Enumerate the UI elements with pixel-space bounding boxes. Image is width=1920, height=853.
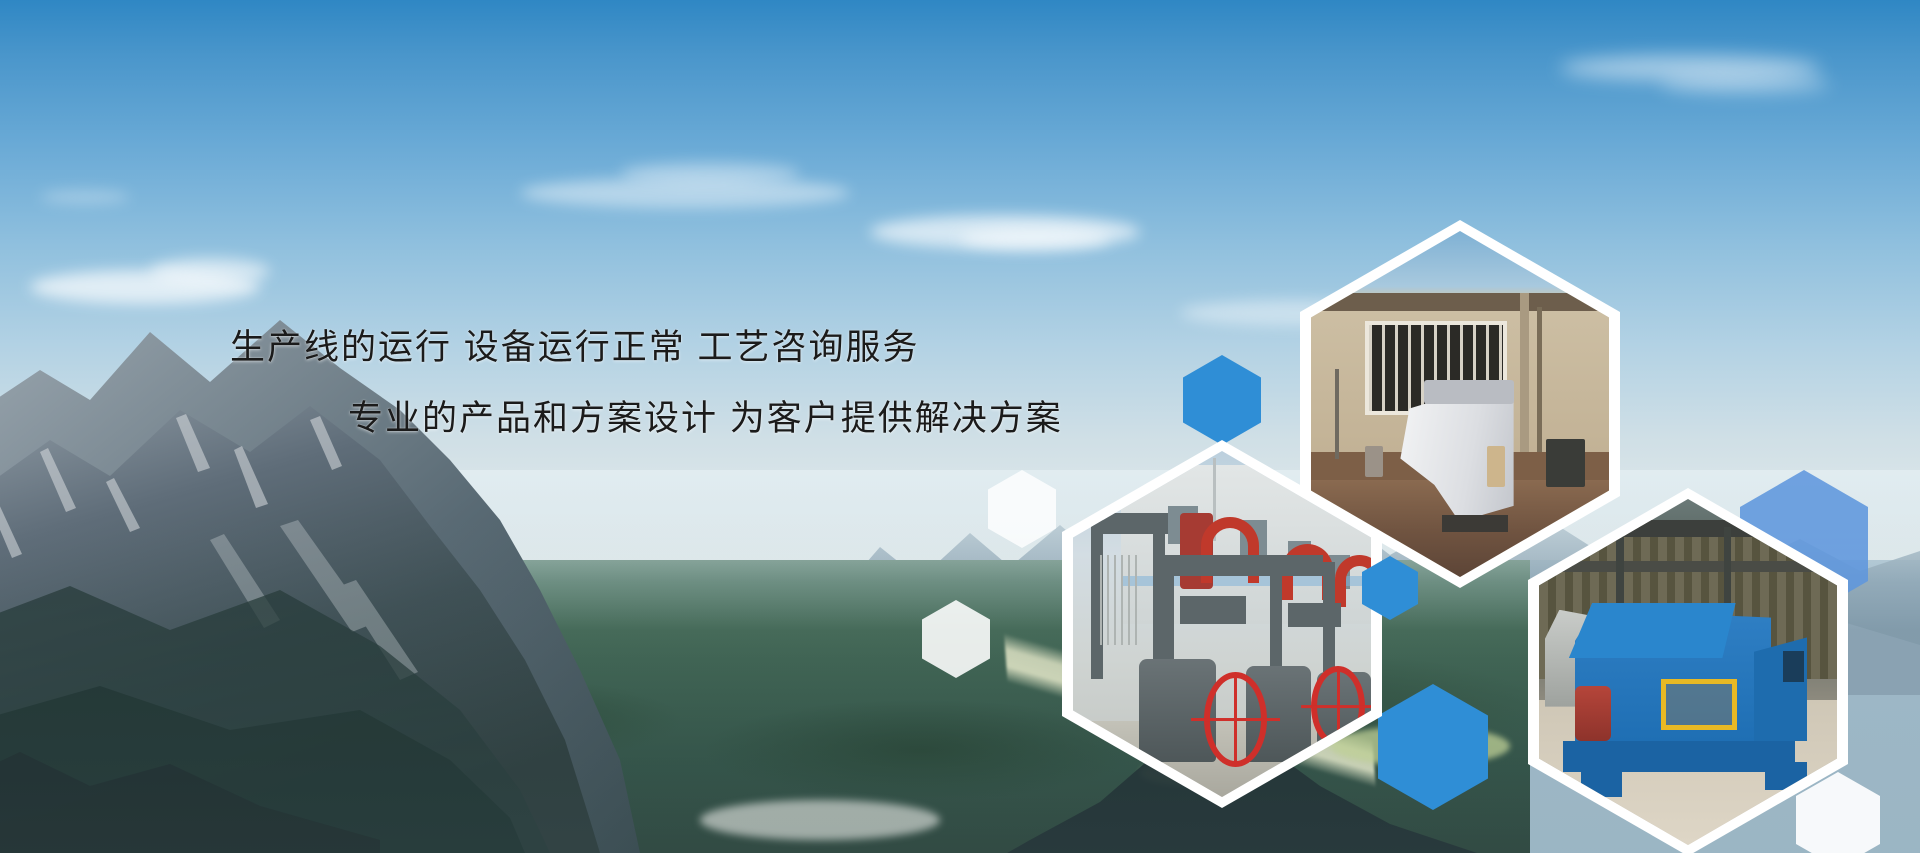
- hex-photo-right-inner: [1539, 499, 1837, 845]
- shredder-hopper: [1569, 603, 1736, 658]
- rail-detail: [1100, 555, 1142, 645]
- equipment-crate: [1546, 439, 1585, 487]
- red-handwheel: [1204, 672, 1267, 767]
- banner-headline: 生产线的运行 设备运行正常 工艺咨询服务 专业的产品和方案设计 为客户提供解决方…: [0, 330, 1160, 436]
- machine-skid-base: [1563, 741, 1795, 772]
- pole: [1335, 369, 1339, 459]
- yellow-guard-rail: [1661, 679, 1737, 731]
- roof-line: [1311, 293, 1609, 310]
- red-motor: [1575, 686, 1611, 741]
- photo-moulding-line: [1073, 451, 1371, 797]
- machine-top-flange: [1424, 380, 1513, 404]
- machine-crossbeam: [1270, 555, 1282, 673]
- headline-line-1: 生产线的运行 设备运行正常 工艺咨询服务: [0, 330, 1160, 365]
- machine-detail: [1487, 446, 1505, 488]
- photo-blue-shredder: [1539, 499, 1837, 845]
- banner-stage: 生产线的运行 设备运行正常 工艺咨询服务 专业的产品和方案设计 为客户提供解决方…: [0, 0, 1920, 853]
- skid-leg: [1765, 762, 1807, 790]
- headline-line-2: 专业的产品和方案设计 为客户提供解决方案: [0, 401, 1160, 436]
- machine-ledge: [1288, 603, 1342, 627]
- roof-beam: [1539, 561, 1837, 571]
- housing-window: [1783, 651, 1804, 682]
- hex-photo-middle-inner: [1073, 451, 1371, 797]
- ground-barrel: [1365, 446, 1383, 477]
- machine-base-block: [1442, 515, 1508, 532]
- machine-ledge: [1180, 596, 1246, 624]
- machine-crossbeam: [1162, 555, 1323, 576]
- skid-leg: [1581, 769, 1623, 797]
